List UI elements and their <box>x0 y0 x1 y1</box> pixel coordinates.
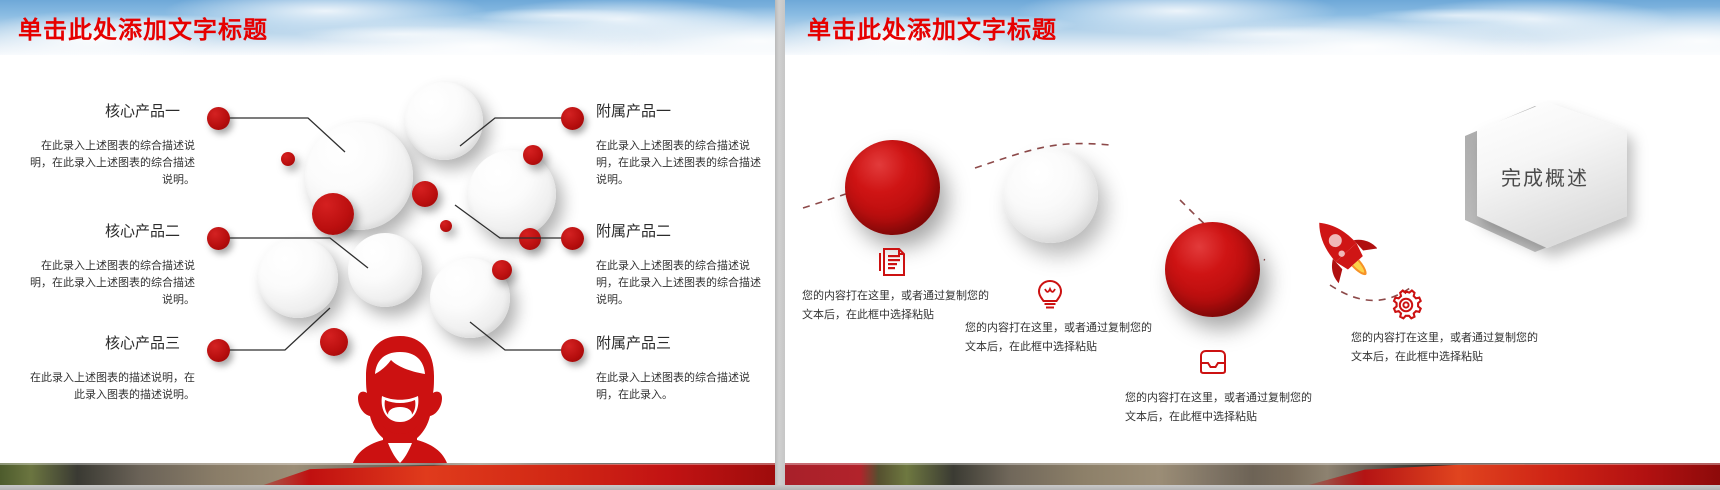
step-1-ball[interactable] <box>845 140 940 235</box>
step-2-text: 您的内容打在这里，或者通过复制您的文本后，在此框中选择粘贴 <box>965 318 1153 357</box>
slide-2-title: 单击此处添加文字标题 <box>807 10 1057 45</box>
left-item-1-label: 核心产品一 <box>105 100 180 121</box>
slide-2: 单击此处添加文字标题 <box>785 0 1720 485</box>
rocket-icon <box>1307 212 1377 289</box>
document-icon <box>877 246 907 283</box>
slide-1-footer-band <box>0 463 775 485</box>
inbox-icon <box>1197 348 1229 381</box>
bearded-person-icon <box>330 330 470 470</box>
right-item-1-desc: 在此录入上述图表的综合描述说明，在此录入上述图表的综合描述说明。 <box>596 137 766 188</box>
slide-2-footer-band <box>785 463 1720 485</box>
right-item-2-label: 附属产品二 <box>596 220 671 241</box>
right-item-1-label: 附属产品一 <box>596 100 671 121</box>
node-dot-left-1[interactable] <box>207 107 230 130</box>
slide-2-header-band: 单击此处添加文字标题 <box>785 0 1720 55</box>
step-2-ball[interactable] <box>1003 148 1098 243</box>
hexagon-label: 完成概述 <box>1501 162 1589 191</box>
node-dot-right-2[interactable] <box>561 227 584 250</box>
node-dot-left-3[interactable] <box>207 339 230 362</box>
right-item-2-desc: 在此录入上述图表的综合描述说明，在此录入上述图表的综合描述说明。 <box>596 257 766 308</box>
lightbulb-icon <box>1035 278 1065 317</box>
footer-highlight-line <box>785 463 1720 465</box>
node-dot-right-1[interactable] <box>561 107 584 130</box>
right-item-3-label: 附属产品三 <box>596 332 671 353</box>
right-item-3-desc: 在此录入上述图表的综合描述说明，在此录入。 <box>596 369 766 403</box>
footer-highlight-line <box>0 463 775 465</box>
slide-1-title: 单击此处添加文字标题 <box>18 10 268 45</box>
left-item-1-desc: 在此录入上述图表的综合描述说明，在此录入上述图表的综合描述说明。 <box>25 137 195 188</box>
gear-icon <box>1389 288 1423 327</box>
left-item-3-desc: 在此录入上述图表的描述说明，在此录入图表的描述说明。 <box>25 369 195 403</box>
node-dot-right-3[interactable] <box>561 339 584 362</box>
step-3-ball[interactable] <box>1165 222 1260 317</box>
left-item-3-label: 核心产品三 <box>105 332 180 353</box>
slide-divider <box>775 0 785 490</box>
step-1-text: 您的内容打在这里，或者通过复制您的文本后，在此框中选择粘贴 <box>802 286 990 325</box>
step-4-text: 您的内容打在这里，或者通过复制您的文本后，在此框中选择粘贴 <box>1351 328 1539 367</box>
node-dot-left-2[interactable] <box>207 227 230 250</box>
slide-deck-canvas: 单击此处添加文字标题 <box>0 0 1720 490</box>
slide-1: 单击此处添加文字标题 <box>0 0 775 485</box>
left-item-2-desc: 在此录入上述图表的综合描述说明，在此录入上述图表的综合描述说明。 <box>25 257 195 308</box>
canvas-bottom-edge <box>0 485 1720 490</box>
left-item-2-label: 核心产品二 <box>105 220 180 241</box>
step-3-text: 您的内容打在这里，或者通过复制您的文本后，在此框中选择粘贴 <box>1125 388 1313 427</box>
summary-hexagon[interactable]: 完成概述 <box>1405 100 1665 280</box>
